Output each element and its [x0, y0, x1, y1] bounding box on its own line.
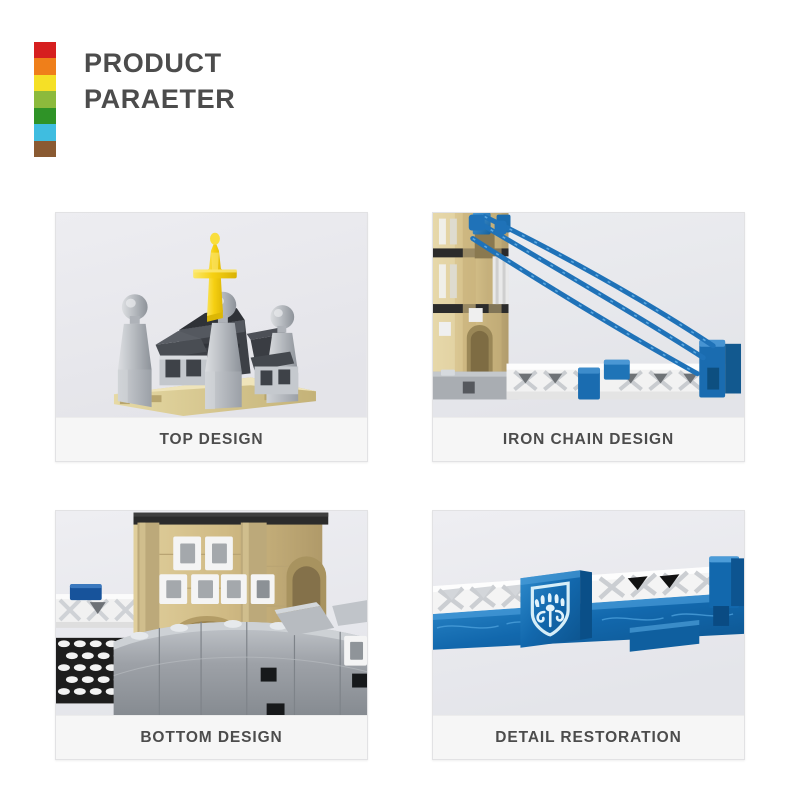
panel-iron-chain-design[interactable]: IRON CHAIN DESIGN [432, 212, 745, 462]
panel-detail-restoration-image [433, 511, 744, 715]
panel-iron-chain-design-image [433, 213, 744, 417]
swatch-green [34, 108, 56, 124]
tower-base-grey [433, 370, 518, 400]
page-header: PRODUCT PARAETER [34, 42, 235, 157]
swatch-yellow [34, 75, 56, 91]
panel-top-design-caption: TOP DESIGN [56, 417, 367, 461]
panel-iron-chain-design-caption: IRON CHAIN DESIGN [433, 417, 744, 461]
bridge-pier-right [699, 340, 741, 398]
turret-left [118, 294, 152, 407]
swatch-cyan [34, 124, 56, 140]
swatch-yellow-green [34, 91, 56, 107]
tower-base-illustration [56, 511, 367, 715]
product-parameter-page: PRODUCT PARAETER [0, 0, 800, 800]
swatch-red [34, 42, 56, 58]
panel-top-design-image [56, 213, 367, 417]
page-title: PRODUCT PARAETER [84, 42, 235, 117]
panel-bottom-design-caption: BOTTOM DESIGN [56, 715, 367, 759]
page-title-line-2: PARAETER [84, 82, 235, 118]
iron-chain-illustration [433, 213, 744, 417]
panel-bottom-design-image [56, 511, 367, 715]
right-roofed-block [251, 352, 299, 395]
castle-turrets-illustration [56, 213, 367, 417]
panel-top-design[interactable]: TOP DESIGN [55, 212, 368, 462]
panel-detail-restoration[interactable]: DETAIL RESTORATION [432, 510, 745, 760]
swatch-brown [34, 141, 56, 157]
panel-detail-restoration-caption: DETAIL RESTORATION [433, 715, 744, 759]
panel-bottom-design[interactable]: BOTTOM DESIGN [55, 510, 368, 760]
curved-grey-wall [114, 620, 367, 715]
right-window-block [344, 636, 367, 666]
feature-panel-grid: TOP DESIGN [55, 212, 745, 760]
bridge-crest-illustration [433, 511, 744, 715]
crest-block [520, 570, 592, 648]
page-title-line-1: PRODUCT [84, 46, 235, 82]
color-swatch-bar [34, 42, 56, 157]
swatch-orange [34, 58, 56, 74]
